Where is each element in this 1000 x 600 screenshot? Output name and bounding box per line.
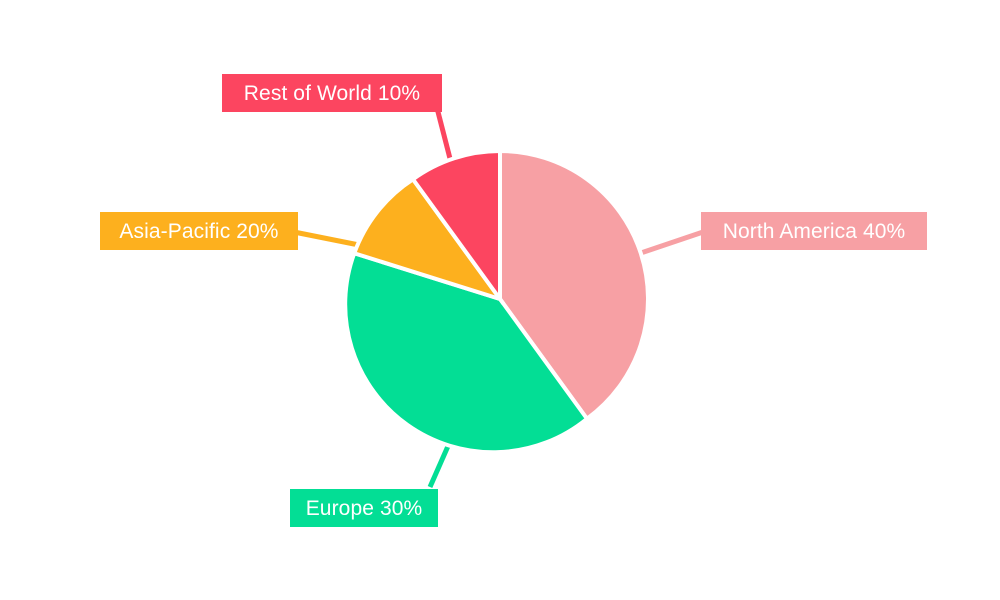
- pie-label-rest-of-world: Rest of World 10%: [222, 74, 442, 112]
- pie-label-asia-pacific-text: Asia-Pacific 20%: [119, 221, 278, 242]
- pie-label-rest-of-world-text: Rest of World 10%: [244, 83, 420, 104]
- pie-label-europe: Europe 30%: [290, 489, 438, 527]
- pie-chart: North America 40% Europe 30% Asia-Pacifi…: [0, 0, 1000, 600]
- pie-label-north-america-text: North America 40%: [723, 221, 906, 242]
- pie-label-north-america: North America 40%: [701, 212, 927, 250]
- pie-chart-canvas: [0, 0, 1000, 600]
- pie-label-asia-pacific: Asia-Pacific 20%: [100, 212, 298, 250]
- pie-label-europe-text: Europe 30%: [306, 498, 423, 519]
